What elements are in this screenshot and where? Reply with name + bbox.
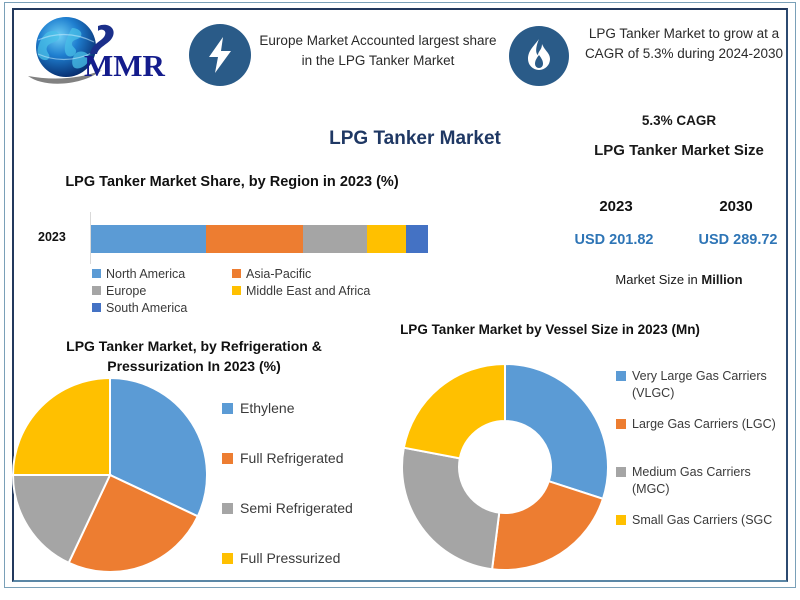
vessel-slice-1: [492, 481, 603, 570]
mmr-logo: MMR: [26, 14, 178, 88]
market-size-unit: Market Size in Million: [560, 272, 798, 287]
refrigeration-legend-item-label: Full Pressurized: [240, 550, 340, 566]
year-end: 2030: [719, 198, 752, 215]
logo-wordmark: MMR: [84, 48, 166, 83]
legend-swatch-icon: [616, 419, 626, 429]
bar-segment-0: [91, 225, 206, 253]
value-end: USD 289.72: [699, 232, 778, 248]
vessel-donut-chart: [400, 362, 610, 572]
market-size-values: USD 201.82 USD 289.72: [552, 232, 800, 248]
legend-swatch-icon: [232, 269, 241, 278]
market-size-years: 2023 2030: [556, 198, 796, 215]
bar-segment-4: [406, 225, 428, 253]
region-legend-item: North America: [92, 265, 232, 282]
vessel-legend-item: Small Gas Carriers (SGC: [616, 512, 788, 560]
legend-swatch-icon: [616, 467, 626, 477]
vessel-legend-item-label: Large Gas Carriers (LGC): [632, 416, 776, 433]
vessel-legend: Very Large Gas Carriers (VLGC)Large Gas …: [616, 368, 788, 560]
page-title: LPG Tanker Market: [230, 128, 600, 150]
refrigeration-legend-item-label: Ethylene: [240, 400, 294, 416]
refrigeration-legend: EthyleneFull RefrigeratedSemi Refrigerat…: [222, 400, 392, 600]
bar-category-label: 2023: [38, 230, 66, 244]
legend-swatch-icon: [222, 403, 233, 414]
vessel-slice-0: [505, 364, 608, 499]
legend-swatch-icon: [222, 453, 233, 464]
vessel-slice-2: [402, 448, 499, 569]
vessel-legend-item-label: Very Large Gas Carriers (VLGC): [632, 368, 788, 402]
flame-icon: [509, 26, 569, 86]
legend-swatch-icon: [616, 371, 626, 381]
bar-segment-1: [206, 225, 304, 253]
refrigeration-pie-chart: [10, 375, 210, 575]
legend-swatch-icon: [222, 553, 233, 564]
globe-swoosh-icon: MMR: [26, 14, 178, 88]
refrigeration-legend-item: Ethylene: [222, 400, 392, 450]
legend-swatch-icon: [92, 269, 101, 278]
region-legend: North AmericaAsia-PacificEuropeMiddle Ea…: [92, 265, 472, 316]
market-size-label: LPG Tanker Market Size: [560, 142, 798, 159]
refrigeration-slice-3: [13, 378, 110, 475]
header-note-cagr: LPG Tanker Market to grow at a CAGR of 5…: [578, 24, 790, 63]
region-legend-item: Europe: [92, 282, 232, 299]
refrigeration-legend-item-label: Full Refrigerated: [240, 450, 344, 466]
region-legend-label: North America: [106, 267, 185, 281]
legend-swatch-icon: [222, 503, 233, 514]
market-size-unit-prefix: Market Size in: [615, 272, 701, 287]
bar-segment-3: [367, 225, 406, 253]
legend-swatch-icon: [232, 286, 241, 295]
cagr-stat: 5.3% CAGR: [570, 113, 788, 128]
legend-swatch-icon: [92, 286, 101, 295]
market-size-unit-value: Million: [701, 272, 742, 287]
vessel-legend-item: Very Large Gas Carriers (VLGC): [616, 368, 788, 416]
region-legend-item: Asia-Pacific: [232, 265, 472, 282]
lightning-bolt-glyph: [204, 36, 236, 74]
flame-glyph: [524, 38, 554, 74]
region-legend-item: Middle East and Africa: [232, 282, 472, 299]
region-legend-item: South America: [92, 299, 232, 316]
region-legend-label: Europe: [106, 284, 146, 298]
vessel-slice-3: [404, 364, 505, 458]
infographic-page: MMR Europe Market Accounted largest shar…: [0, 0, 800, 592]
refrigeration-legend-item: Full Refrigerated: [222, 450, 392, 500]
region-legend-label: Asia-Pacific: [246, 267, 311, 281]
legend-swatch-icon: [616, 515, 626, 525]
bar-segment-2: [303, 225, 367, 253]
header-note-europe: Europe Market Accounted largest share in…: [256, 31, 500, 70]
refrigeration-chart-title: LPG Tanker Market, by Refrigeration & Pr…: [24, 336, 364, 377]
vessel-legend-item-label: Medium Gas Carriers (MGC): [632, 464, 788, 498]
refrigeration-legend-item: Full Pressurized: [222, 550, 392, 600]
refrigeration-legend-item-label: Semi Refrigerated: [240, 500, 353, 516]
region-chart-title: LPG Tanker Market Share, by Region in 20…: [62, 172, 402, 192]
vessel-chart-title: LPG Tanker Market by Vessel Size in 2023…: [400, 320, 700, 340]
vessel-legend-item: Large Gas Carriers (LGC): [616, 416, 788, 464]
legend-swatch-icon: [92, 303, 101, 312]
vessel-legend-item-label: Small Gas Carriers (SGC: [632, 512, 772, 529]
region-legend-label: South America: [106, 301, 187, 315]
refrigeration-legend-item: Semi Refrigerated: [222, 500, 392, 550]
year-start: 2023: [599, 198, 632, 215]
value-start: USD 201.82: [575, 232, 654, 248]
lightning-bolt-icon: [189, 24, 251, 86]
region-legend-label: Middle East and Africa: [246, 284, 370, 298]
region-stacked-bar: [91, 225, 428, 253]
vessel-legend-item: Medium Gas Carriers (MGC): [616, 464, 788, 512]
